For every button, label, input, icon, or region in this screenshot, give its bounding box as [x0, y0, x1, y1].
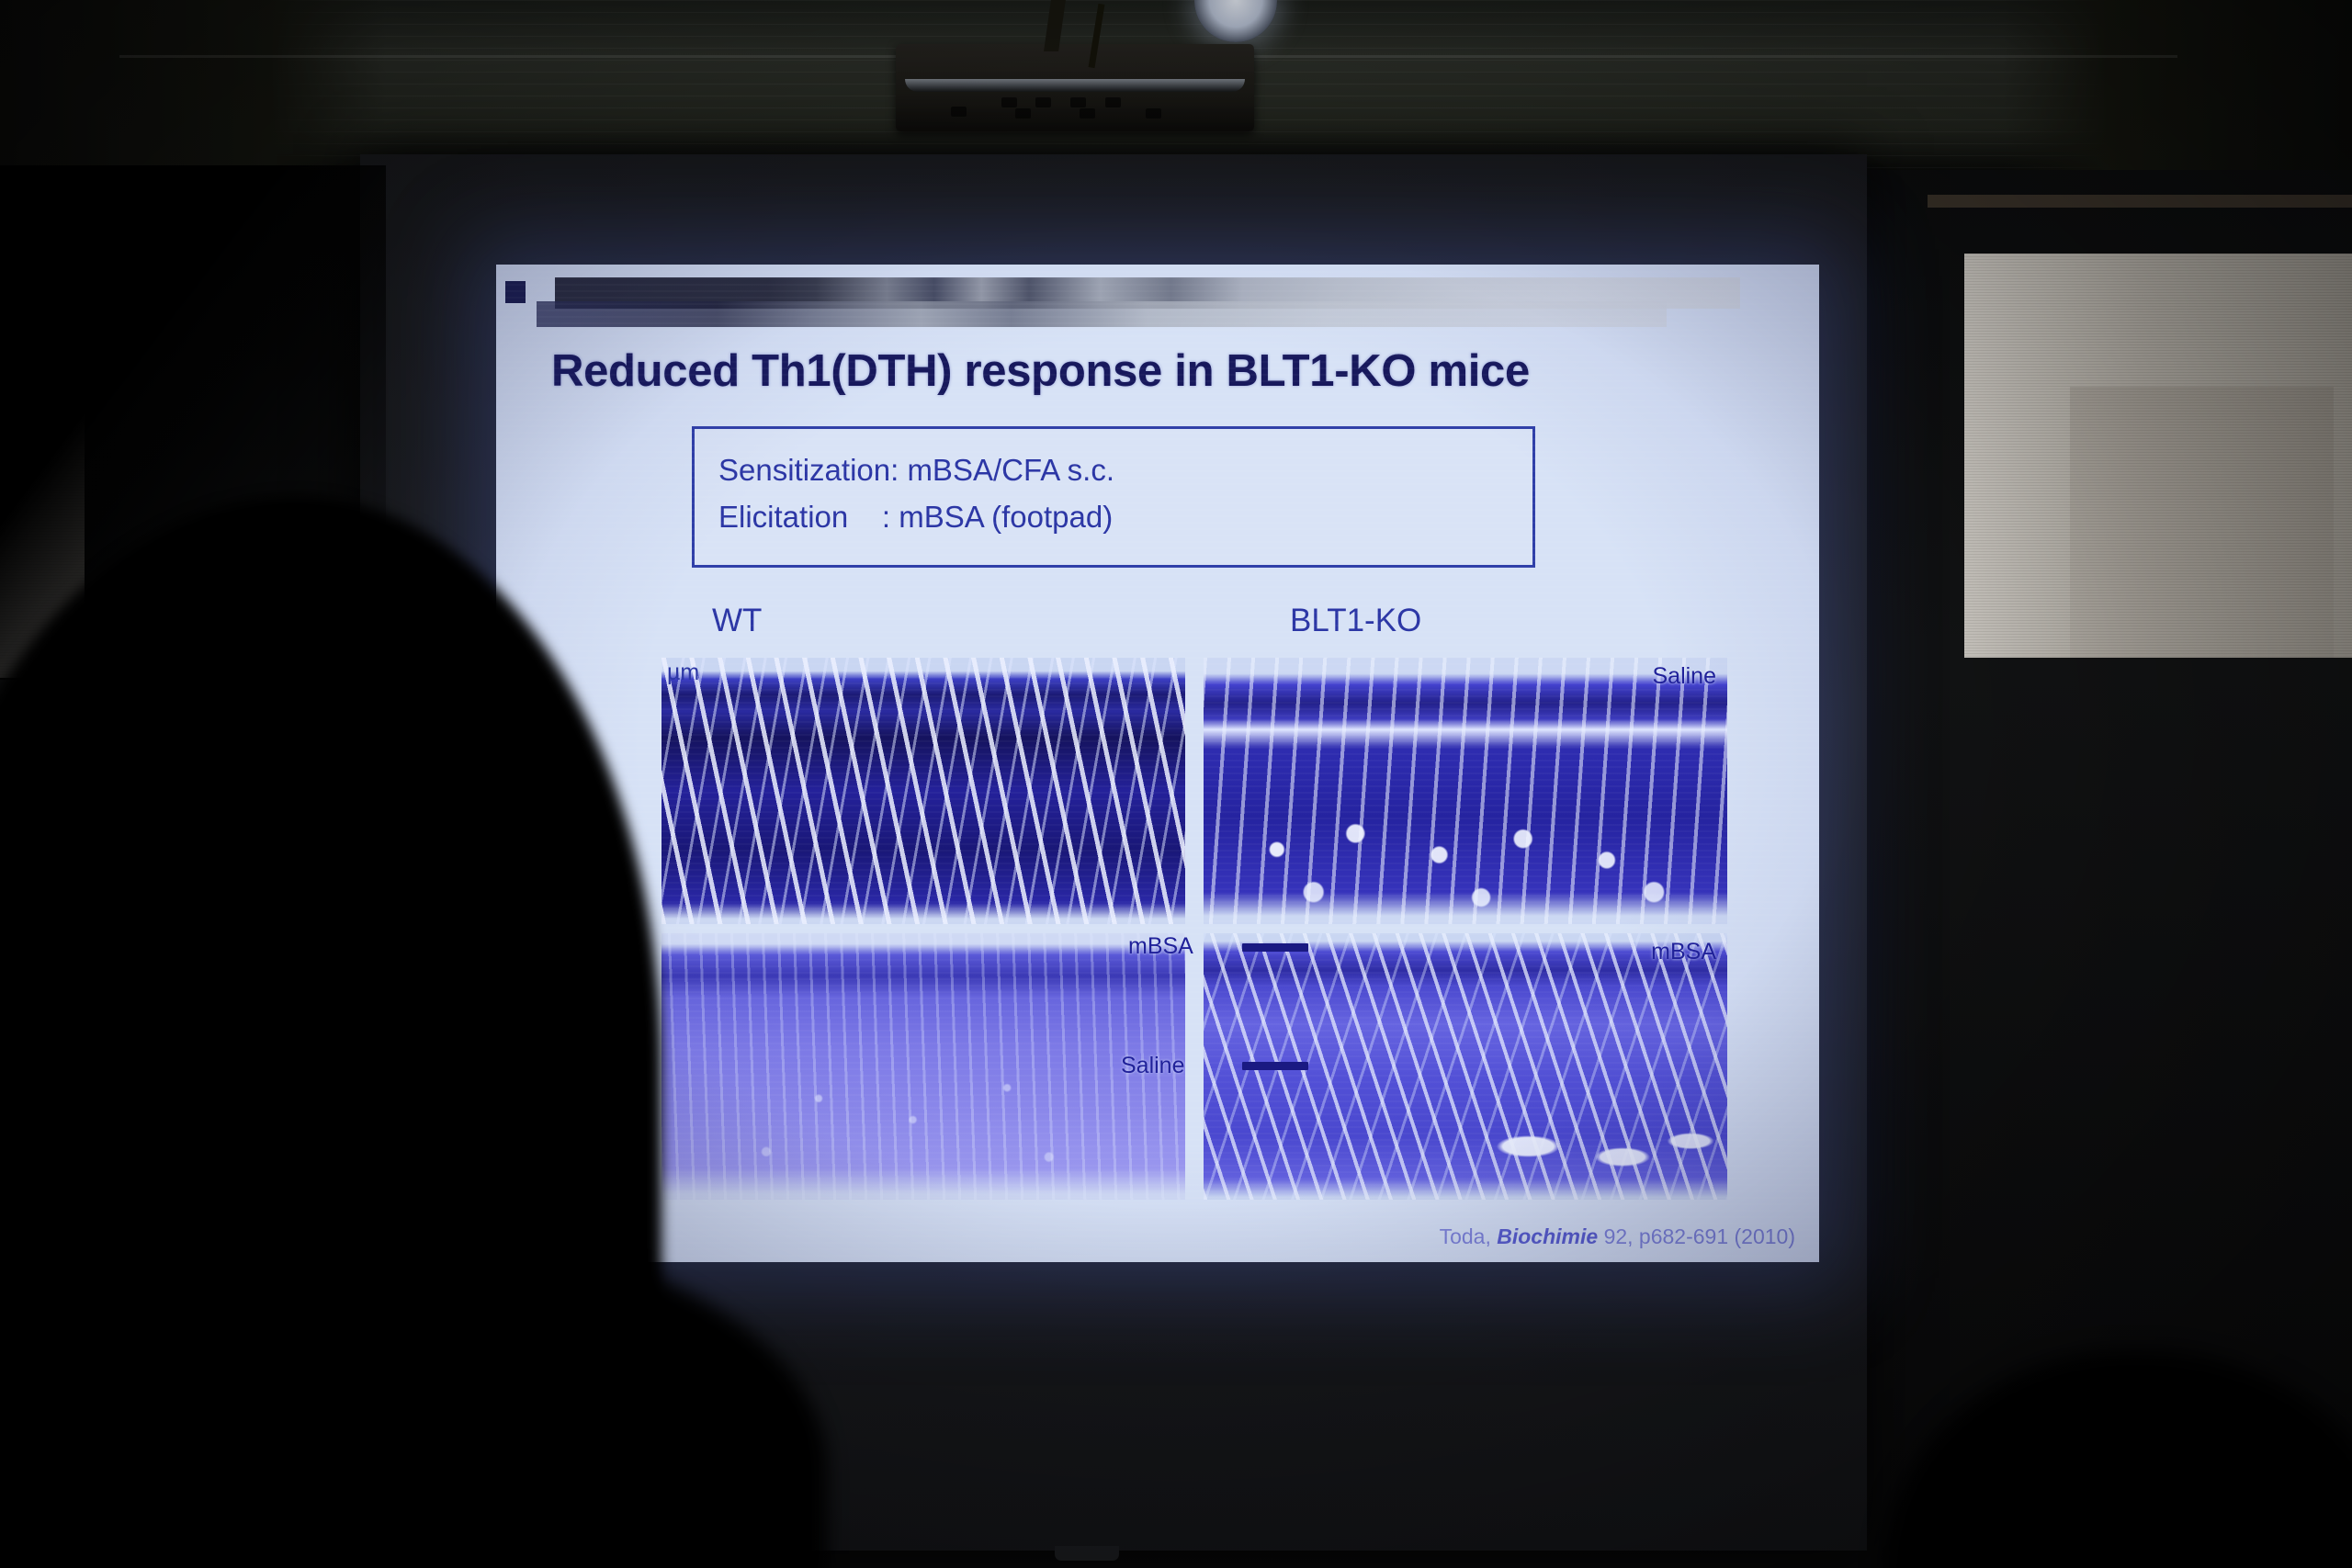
- group-label-wt: WT: [712, 603, 762, 639]
- citation-details: 92, p682-691 (2010): [1604, 1224, 1795, 1248]
- tissue-section-image: [661, 933, 1185, 1200]
- slide-title: Reduced Th1(DTH) response in BLT1-KO mic…: [551, 345, 1773, 397]
- wall-panel-shadow: [2070, 387, 2334, 658]
- lecture-hall-photo: Reduced Th1(DTH) response in BLT1-KO mic…: [0, 0, 2352, 1568]
- panel-tag-ko-mbsa: mBSA: [1651, 939, 1716, 965]
- scale-bar-wt-saline: [1242, 1062, 1308, 1070]
- citation: Toda, Biochimie 92, p682-691 (2010): [1440, 1224, 1795, 1249]
- wall-panel-right: [1964, 254, 2352, 658]
- redacted-bar-lower: [537, 301, 1667, 327]
- scale-bar-wt-mbsa: [1242, 943, 1308, 952]
- screen-pull-tab[interactable]: [1055, 1546, 1119, 1561]
- ceiling-shadow-left: [0, 0, 386, 170]
- panel-tag-ko-saline: Saline: [1653, 663, 1717, 690]
- scale-unit-label: µm: [667, 660, 699, 686]
- histology-panel-wt-saline: [661, 658, 1185, 924]
- panel-tag-wt-saline: Saline: [1121, 1053, 1185, 1079]
- citation-author: Toda,: [1440, 1224, 1491, 1248]
- group-label-blt1ko: BLT1-KO: [1290, 603, 1421, 639]
- method-sensitization: Sensitization: mBSA/CFA s.c.: [718, 453, 1114, 488]
- tissue-section-image: [661, 658, 1185, 924]
- method-box: Sensitization: mBSA/CFA s.c. Elicitation…: [692, 426, 1535, 568]
- histology-panel-ko-saline: Saline: [1204, 658, 1727, 924]
- wall-trim-right: [1928, 195, 2352, 208]
- ceiling-shadow-right: [2003, 0, 2352, 170]
- tissue-section-image: [1204, 658, 1727, 924]
- projector-lens-housing: [905, 79, 1245, 92]
- panel-tag-wt-mbsa: mBSA: [1128, 933, 1193, 960]
- citation-journal: Biochimie: [1497, 1224, 1598, 1248]
- histology-panel-wt-mbsa: [661, 933, 1185, 1200]
- method-elicitation: Elicitation : mBSA (footpad): [718, 500, 1113, 535]
- histology-grid: Saline Saline mBSA mBSA: [661, 658, 1727, 1198]
- presentation-slide: Reduced Th1(DTH) response in BLT1-KO mic…: [496, 265, 1819, 1262]
- header-bullet-icon: [505, 281, 526, 303]
